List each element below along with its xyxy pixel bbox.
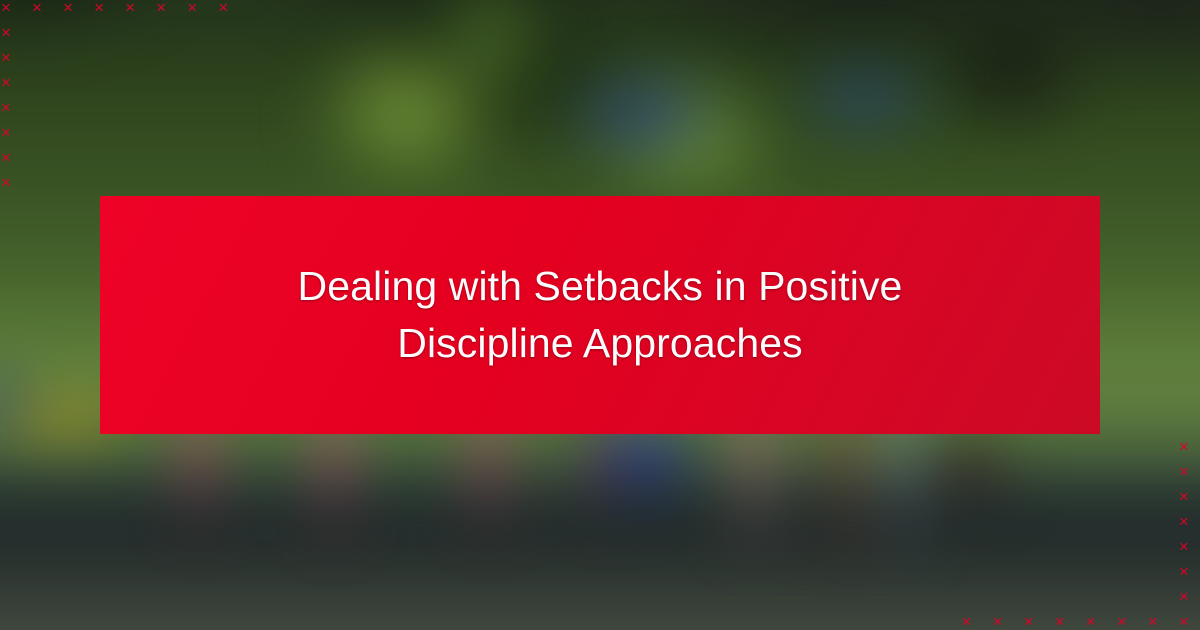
title-banner: Dealing with Setbacks in Positive Discip… — [100, 196, 1100, 434]
decorative-x-pattern-bottom-right: × × × × × × × × × × × × × × × — [962, 434, 1197, 630]
page-title: Dealing with Setbacks in Positive Discip… — [270, 258, 930, 372]
decorative-x-pattern-top-left: × × × × × × × × × × × × × × × — [1, 0, 236, 195]
social-share-card: × × × × × × × × × × × × × × × × × × × × … — [0, 0, 1200, 630]
